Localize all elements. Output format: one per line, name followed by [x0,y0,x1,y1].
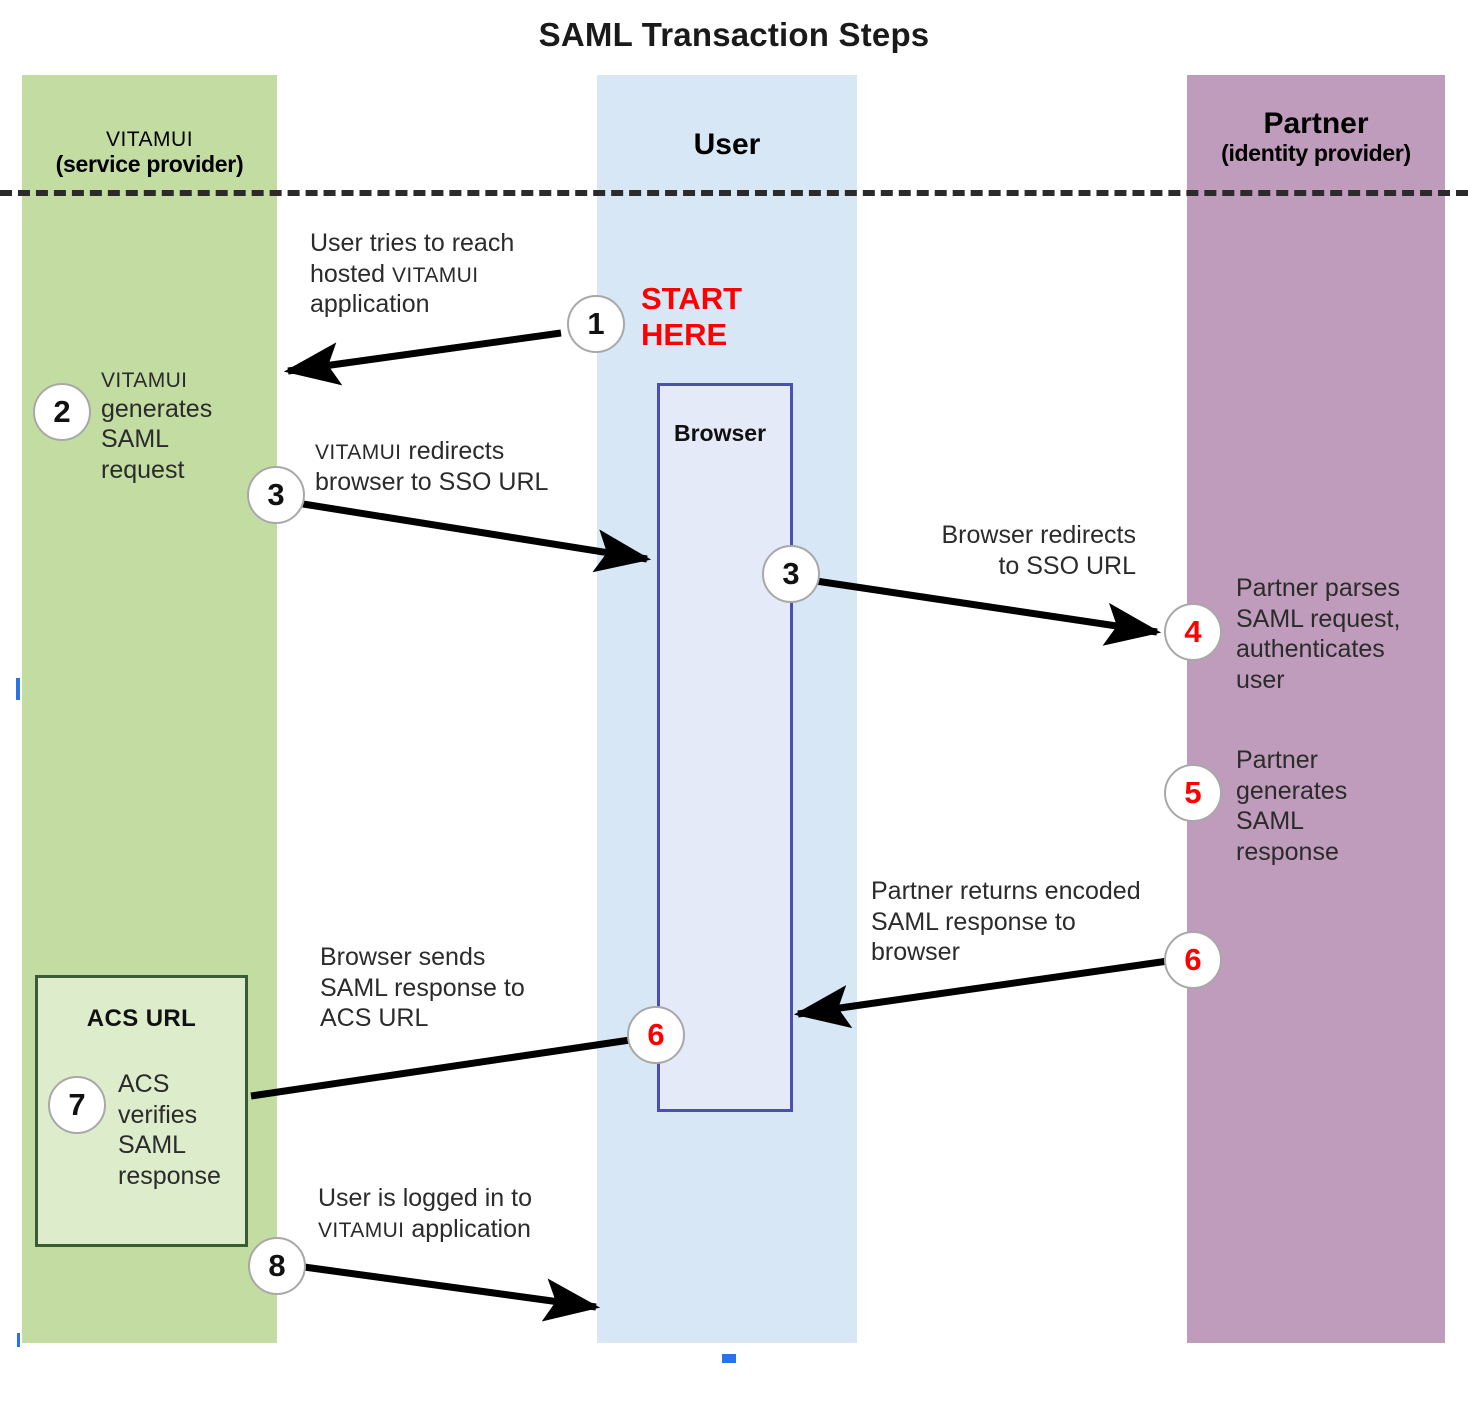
caption-step-3-sp: VITAMUI redirects browser to SSO URL [315,436,605,497]
arrow-step-6-browser-to-acs [251,1040,630,1096]
caption-step-6-browser-line-2: SAML response to [320,973,610,1004]
lane-user-name: User [597,128,857,162]
caption-step-5: Partner generates SAML response [1236,745,1456,867]
caption-step-1-line-2: hosted VITAMUI [310,259,570,290]
caption-step-4-line-3: authenticates [1236,634,1456,665]
caption-step-2-line-3: SAML [101,424,261,455]
arrow-step-1 [288,333,561,371]
caption-step-7-line-2: verifies [118,1100,248,1131]
lane-identity-provider-name: Partner [1187,107,1445,141]
caption-step-5-line-3: SAML [1236,806,1456,837]
caption-step-6-browser-line-3: ACS URL [320,1003,610,1034]
lane-identity-provider: Partner (identity provider) [1187,75,1445,1343]
selection-handle-left[interactable] [14,676,22,702]
trust-boundary-divider [0,190,1468,196]
caption-step-3-browser-line-1: Browser redirects [866,520,1136,551]
saml-transaction-diagram: VITAMUI (service provider) User Partner … [0,0,1468,1402]
caption-step-5-line-4: response [1236,837,1456,868]
browser-box: Browser [657,383,793,1112]
caption-step-4-line-2: SAML request, [1236,604,1456,635]
lane-identity-provider-title: Partner (identity provider) [1187,107,1445,166]
caption-step-6-idp: Partner returns encoded SAML response to… [871,876,1171,968]
caption-step-2-line-2: generates [101,394,261,425]
caption-step-2-line-4: request [101,455,261,486]
caption-step-3-sp-line-1: VITAMUI redirects [315,436,605,467]
caption-step-5-line-1: Partner [1236,745,1456,776]
lane-service-provider-title: VITAMUI (service provider) [22,128,277,177]
lane-service-provider-name: VITAMUI [22,128,277,152]
page-title: SAML Transaction Steps [0,16,1468,54]
step-marker-4[interactable]: 4 [1164,603,1222,661]
caption-step-2: VITAMUI generates SAML request [101,368,261,485]
caption-step-6-idp-line-2: SAML response to [871,907,1171,938]
caption-step-7-line-4: response [118,1161,248,1192]
arrow-step-3-browser-to-idp [816,581,1157,632]
lane-user-title: User [597,128,857,162]
step-marker-3-sp[interactable]: 3 [247,466,305,524]
selection-handle-bottom-center[interactable] [720,1352,738,1365]
caption-step-3-browser-line-2: to SSO URL [866,551,1136,582]
caption-step-1-line-3: application [310,289,570,320]
arrow-step-8 [304,1267,596,1307]
start-here-annotation: START HERE [641,281,742,353]
caption-step-8: User is logged in to VITAMUI application [318,1183,608,1244]
caption-step-7-line-1: ACS [118,1069,248,1100]
caption-step-6-idp-line-3: browser [871,937,1171,968]
step-marker-1[interactable]: 1 [567,295,625,353]
lane-identity-provider-role: (identity provider) [1187,141,1445,167]
caption-step-8-line-2: VITAMUI application [318,1214,608,1245]
caption-step-7: ACS verifies SAML response [118,1069,248,1191]
arrow-step-3-sp-to-browser [303,504,647,559]
step-marker-7[interactable]: 7 [48,1076,106,1134]
caption-step-4: Partner parses SAML request, authenticat… [1236,573,1456,695]
start-here-line-2: HERE [641,317,742,353]
start-here-line-1: START [641,281,742,317]
caption-step-6-idp-line-1: Partner returns encoded [871,876,1171,907]
caption-step-3-browser: Browser redirects to SSO URL [866,520,1136,581]
caption-step-2-line-1: VITAMUI [101,368,261,394]
caption-step-4-line-1: Partner parses [1236,573,1456,604]
step-marker-5[interactable]: 5 [1164,764,1222,822]
step-marker-6-idp[interactable]: 6 [1164,931,1222,989]
caption-step-6-browser-line-1: Browser sends [320,942,610,973]
caption-step-3-sp-line-2: browser to SSO URL [315,467,605,498]
step-marker-2[interactable]: 2 [33,383,91,441]
caption-step-5-line-2: generates [1236,776,1456,807]
caption-step-8-line-1: User is logged in to [318,1183,608,1214]
caption-step-7-line-3: SAML [118,1130,248,1161]
caption-step-1-line-1: User tries to reach [310,228,570,259]
caption-step-1: User tries to reach hosted VITAMUI appli… [310,228,570,320]
caption-step-4-line-4: user [1236,665,1456,696]
selection-handle-bottom-left[interactable] [15,1331,22,1349]
lane-service-provider-role: (service provider) [22,152,277,178]
step-marker-8[interactable]: 8 [248,1237,306,1295]
step-marker-3-browser[interactable]: 3 [762,545,820,603]
acs-url-box-label: ACS URL [38,1005,245,1033]
caption-step-6-browser: Browser sends SAML response to ACS URL [320,942,610,1034]
browser-box-label: Browser [674,420,766,447]
step-marker-6-browser[interactable]: 6 [627,1006,685,1064]
